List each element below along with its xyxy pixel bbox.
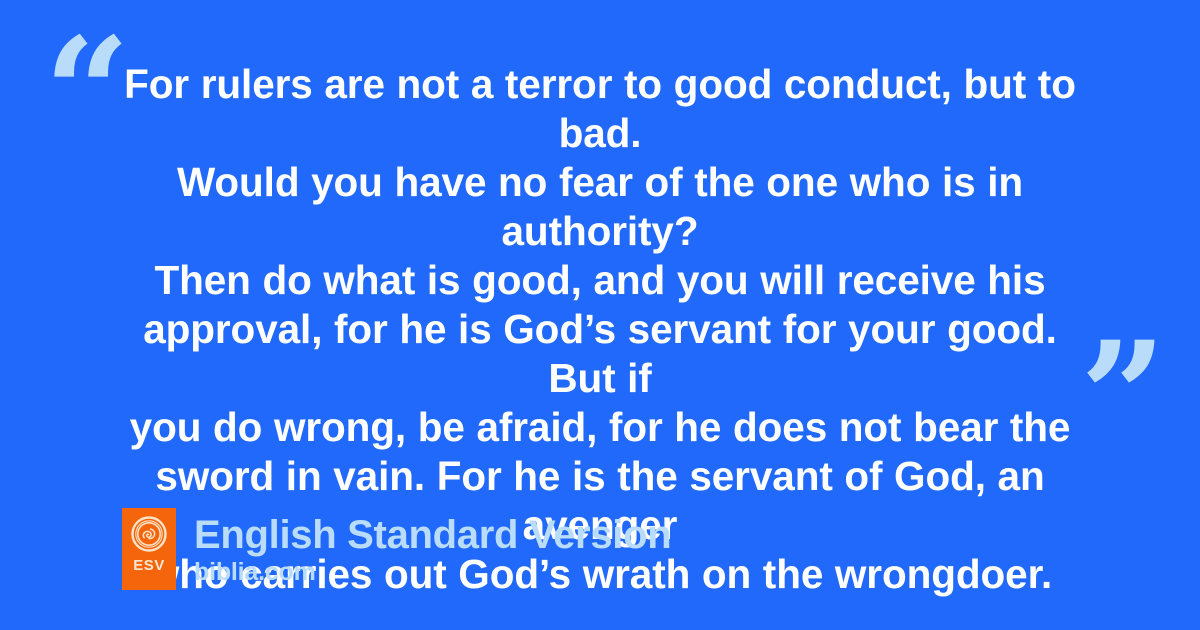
esv-seal-icon	[131, 516, 167, 552]
site-url-label[interactable]: biblia.com	[194, 558, 671, 586]
esv-logo-badge: ESV	[122, 508, 176, 590]
attribution-text: English Standard Version biblia.com	[194, 513, 671, 586]
quote-card: “ For rulers are not a terror to good co…	[0, 0, 1200, 630]
bible-version-name: English Standard Version	[194, 513, 671, 557]
esv-abbreviation-label: ESV	[133, 558, 165, 573]
attribution-footer: ESV English Standard Version biblia.com	[122, 508, 671, 590]
closing-quote-icon: ”	[1080, 322, 1163, 472]
